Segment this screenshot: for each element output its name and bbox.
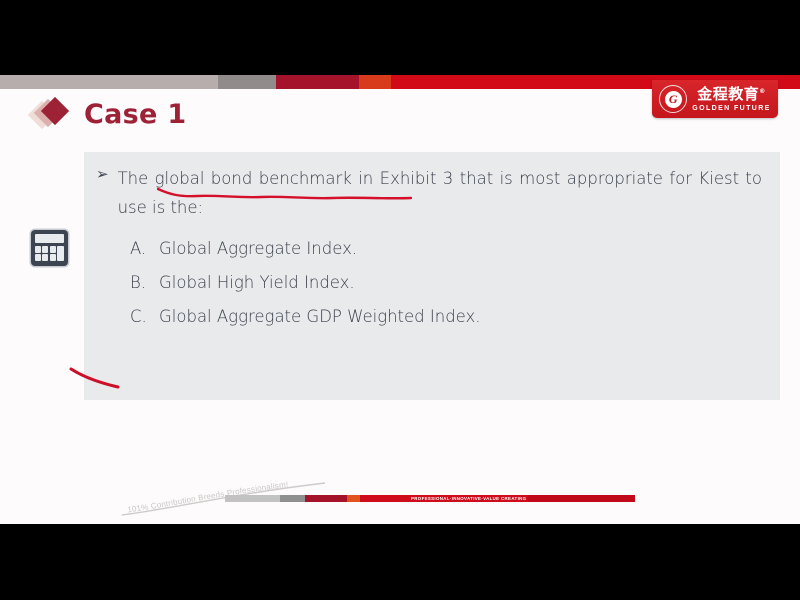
calculator-key: [42, 246, 48, 253]
footer-segment-light-gray: [225, 495, 280, 502]
option-a-letter: A.: [130, 232, 148, 266]
option-c[interactable]: C. Global Aggregate GDP Weighted Index.: [130, 300, 762, 334]
logo-seal-glyph: G: [665, 91, 682, 108]
bullet-arrow-icon: ➢: [94, 164, 109, 186]
question-text: The global bond benchmark in Exhibit 3 t…: [118, 164, 762, 222]
calculator-key-tall: [57, 246, 64, 261]
logo-text: 金程教育® GOLDEN FUTURE: [692, 87, 770, 112]
footer-tagline-segment: PROFESSIONAL·INNOVATIVE·VALUE CREATING: [409, 495, 528, 502]
option-c-label: Global Aggregate GDP Weighted Index.: [159, 300, 481, 334]
footer-segment-mid-gray: [280, 495, 305, 502]
calculator-key: [35, 254, 41, 261]
footer-segment-orange-red: [347, 495, 360, 502]
logo-name-cn: 金程教育®: [697, 87, 766, 102]
topbar-segment-orange-red: [359, 75, 391, 89]
option-a-label: Global Aggregate Index.: [159, 232, 357, 266]
page-title: Case 1: [84, 99, 186, 130]
option-a[interactable]: A. Global Aggregate Index.: [130, 232, 762, 266]
registered-mark: ®: [759, 88, 766, 95]
presentation-slide: G 金程教育® GOLDEN FUTURE Case 1: [0, 75, 800, 524]
option-b-label: Global High Yield Index.: [159, 266, 355, 300]
calculator-icon: [31, 230, 68, 266]
footer-segment-end-red: [528, 495, 635, 502]
topbar-segment-mauve-gray: [0, 75, 218, 89]
option-b-letter: B.: [130, 266, 148, 300]
option-c-letter: C.: [130, 300, 148, 334]
video-viewport: G 金程教育® GOLDEN FUTURE Case 1: [0, 0, 800, 600]
footer-segment-dark-red: [305, 495, 347, 502]
calculator-keys: [35, 246, 64, 261]
calculator-screen: [35, 234, 64, 243]
footer-bar: PROFESSIONAL·INNOVATIVE·VALUE CREATING: [225, 495, 635, 502]
calculator-key: [42, 254, 48, 261]
question-panel: ➢ The global bond benchmark in Exhibit 3…: [84, 152, 780, 400]
option-b[interactable]: B. Global High Yield Index.: [130, 266, 762, 300]
topbar-segment-gray: [218, 75, 276, 89]
calculator-key: [35, 246, 41, 253]
logo-name-en: GOLDEN FUTURE: [692, 105, 770, 112]
footer-segment-bright-red: [360, 495, 409, 502]
logo-seal-icon: G: [659, 85, 687, 113]
calculator-key: [50, 254, 56, 261]
diamond-decoration-icon: [30, 97, 74, 131]
question-row: ➢ The global bond benchmark in Exhibit 3…: [94, 164, 762, 222]
topbar-segment-dark-red: [276, 75, 359, 89]
calculator-key: [50, 246, 56, 253]
footer-tagline-text: PROFESSIONAL·INNOVATIVE·VALUE CREATING: [409, 495, 528, 502]
brand-logo: G 金程教育® GOLDEN FUTURE: [652, 80, 778, 118]
answer-options-list: A. Global Aggregate Index. B. Global Hig…: [130, 232, 762, 334]
slide-title-row: Case 1: [30, 97, 186, 131]
